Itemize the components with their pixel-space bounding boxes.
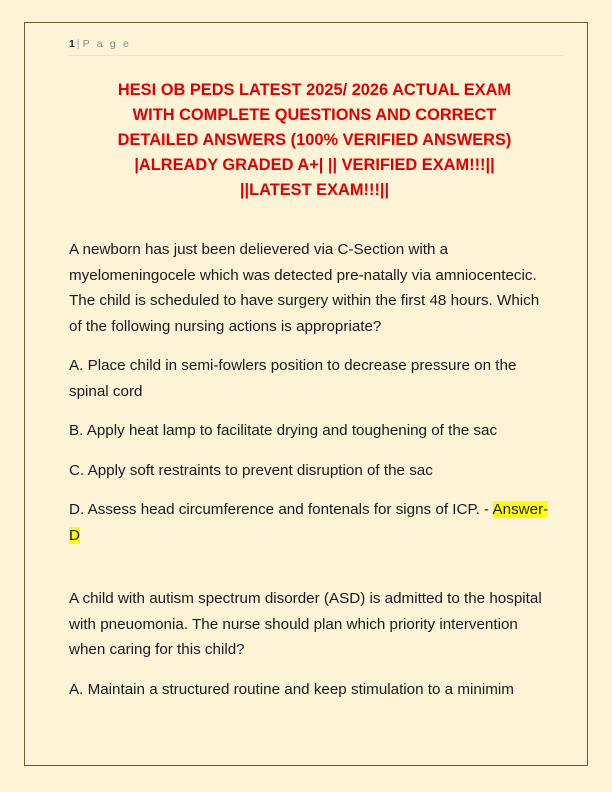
title-line-1: HESI OB PEDS LATEST 2025/ 2026 ACTUAL EX… (69, 78, 560, 103)
title-line-2: WITH COMPLETE QUESTIONS AND CORRECT (69, 103, 560, 128)
question-option-c: C. Apply soft restraints to prevent disr… (69, 458, 564, 484)
question-stem: A child with autism spectrum disorder (A… (69, 586, 564, 663)
page-content: 1|P a g e HESI OB PEDS LATEST 2025/ 2026… (24, 22, 588, 766)
header-divider (69, 55, 564, 56)
question-option-a: A. Maintain a structured routine and kee… (69, 677, 564, 703)
running-header: 1|P a g e (69, 34, 564, 55)
question-block-1: A newborn has just been delievered via C… (69, 237, 564, 548)
document-title: HESI OB PEDS LATEST 2025/ 2026 ACTUAL EX… (69, 78, 564, 203)
question-stem: A newborn has just been delievered via C… (69, 237, 564, 339)
question-block-2: A child with autism spectrum disorder (A… (69, 586, 564, 702)
title-line-3: DETAILED ANSWERS (100% VERIFIED ANSWERS) (69, 128, 560, 153)
question-option-a: A. Place child in semi-fowlers position … (69, 353, 564, 404)
document-page: 1|P a g e HESI OB PEDS LATEST 2025/ 2026… (0, 0, 612, 792)
header-separator: | (77, 38, 80, 50)
option-d-text: D. Assess head circumference and fontena… (69, 501, 493, 518)
page-number: 1 (69, 38, 75, 50)
question-option-d: D. Assess head circumference and fontena… (69, 497, 564, 548)
title-line-4: |ALREADY GRADED A+| || VERIFIED EXAM!!!|… (69, 153, 560, 178)
header-page-label: P a g e (83, 38, 131, 50)
question-option-b: B. Apply heat lamp to facilitate drying … (69, 418, 564, 444)
paragraph-spacer (69, 562, 564, 586)
title-line-5: ||LATEST EXAM!!!|| (69, 178, 560, 203)
